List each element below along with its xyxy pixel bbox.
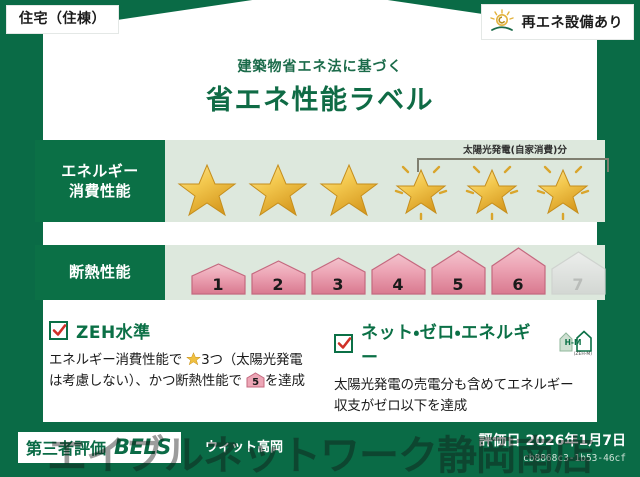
criteria-notes: ZEH水準 エネルギー消費性能で 3つ（太陽光発電 は考慮しない）、かつ断熱性能… [35, 312, 605, 416]
insulation-rating-panel: 1 2 3 4 [165, 245, 605, 300]
zeh-body-part1: エネルギー消費性能で [49, 352, 182, 368]
insulation-level-number: 3 [310, 277, 367, 293]
zeh-standard-note: ZEH水準 エネルギー消費性能で 3つ（太陽光発電 は考慮しない）、かつ断熱性能… [35, 312, 320, 416]
building-name: ウィット高岡 [205, 436, 283, 455]
label-subtitle: 建築物省エネ法に基づく [0, 56, 640, 76]
energy-rating-panel: 太陽光発電(自家消費)分 [165, 140, 605, 222]
insulation-level-6: 6 [490, 246, 547, 296]
star-solar [532, 158, 594, 220]
insulation-level-number: 7 [550, 277, 607, 293]
netzero-body-line1: 太陽光発電の売電分も含めてエネルギー [334, 377, 573, 393]
insulation-level-2: 2 [250, 259, 307, 296]
energy-label-root: 住宅（住棟） 再エネ設備あり 建築物省エネ法に基づく 省エネ性能ラベル エネル [0, 0, 640, 477]
checkbox-checked-icon [49, 321, 68, 340]
renewable-equipment-label: 再エネ設備あり [522, 12, 624, 32]
insulation-level-number: 4 [370, 277, 427, 293]
star-rating-group [165, 158, 605, 220]
insulation-level-7: 7 [550, 250, 607, 296]
energy-label-line1: エネルギー [61, 161, 139, 181]
zeh-note-header: ZEH水準 [49, 318, 312, 343]
energy-performance-row: エネルギー 消費性能 太陽光発電(自家消費)分 [35, 140, 605, 222]
netzero-note-header: ネット・ゼロ・エネルギー H-M (ZEH-M) [334, 318, 597, 368]
net-zero-energy-note: ネット・ゼロ・エネルギー H-M (ZEH-M) 太陽光発電の売電分も含めてエネ… [320, 312, 605, 416]
insulation-performance-row: 断熱性能 [35, 245, 605, 300]
evaluation-date: 評価日 2026年1月7日 [479, 430, 626, 450]
star-filled [176, 158, 238, 220]
star-solar [390, 158, 452, 220]
zeh-m-logo-icon: H-M (ZEH-M) [551, 329, 597, 357]
zeh-note-title: ZEH水準 [76, 318, 151, 343]
inline-house-icon: 5 [246, 372, 265, 388]
insulation-level-5: 5 [430, 249, 487, 296]
evaluation-id: cb8868c3-1b53-46cf [479, 453, 626, 464]
checkbox-checked-icon [334, 334, 353, 353]
renewable-equipment-badge: 再エネ設備あり [481, 4, 635, 40]
insulation-level-group: 1 2 3 4 [165, 246, 605, 296]
star-filled [318, 158, 380, 220]
bels-jp-label: 第三者評価 [26, 435, 106, 459]
insulation-level-number: 2 [250, 277, 307, 293]
insulation-level-3: 3 [310, 256, 367, 296]
insulation-level-number: 5 [430, 277, 487, 293]
solar-sun-icon [488, 9, 516, 35]
svg-text:(ZEH-M): (ZEH-M) [574, 351, 593, 357]
insulation-performance-label: 断熱性能 [35, 245, 165, 300]
evaluation-date-value: 2026年1月7日 [526, 433, 626, 449]
insulation-level-number: 1 [190, 277, 247, 293]
evaluation-info: 評価日 2026年1月7日 cb8868c3-1b53-46cf [479, 430, 626, 464]
label-footer: 第三者評価 BELS ウィット高岡 評価日 2026年1月7日 cb8868c3… [0, 422, 640, 477]
house-type-tag: 住宅（住棟） [6, 5, 119, 34]
netzero-note-title: ネット・ゼロ・エネルギー [361, 318, 543, 368]
insulation-level-number: 6 [490, 277, 547, 293]
svg-text:5: 5 [252, 377, 259, 388]
energy-label-line2: 消費性能 [69, 181, 131, 201]
svg-text:H-M: H-M [565, 338, 582, 347]
star-solar [461, 158, 523, 220]
inline-star-icon [186, 351, 201, 366]
bels-logo-text: BELS [114, 435, 171, 459]
label-title: 省エネ性能ラベル [0, 78, 640, 117]
evaluation-date-label: 評価日 [479, 433, 521, 449]
bels-certification-badge: 第三者評価 BELS [18, 432, 181, 463]
insulation-level-4: 4 [370, 252, 427, 296]
zeh-body-star-count: 3つ（太陽光発電 [201, 352, 303, 368]
zeh-body-part2: は考慮しない）、かつ断熱性能で [49, 373, 242, 389]
solar-bracket-label: 太陽光発電(自家消費)分 [410, 142, 620, 156]
energy-performance-label: エネルギー 消費性能 [35, 140, 165, 222]
zeh-note-body: エネルギー消費性能で 3つ（太陽光発電 は考慮しない）、かつ断熱性能で 5 を達… [49, 350, 312, 392]
star-filled [247, 158, 309, 220]
insulation-level-1: 1 [190, 262, 247, 296]
netzero-note-body: 太陽光発電の売電分も含めてエネルギー 収支がゼロ以下を達成 [334, 375, 597, 417]
zeh-body-part3: を達成 [265, 373, 305, 389]
netzero-body-line2: 収支がゼロ以下を達成 [334, 398, 467, 414]
